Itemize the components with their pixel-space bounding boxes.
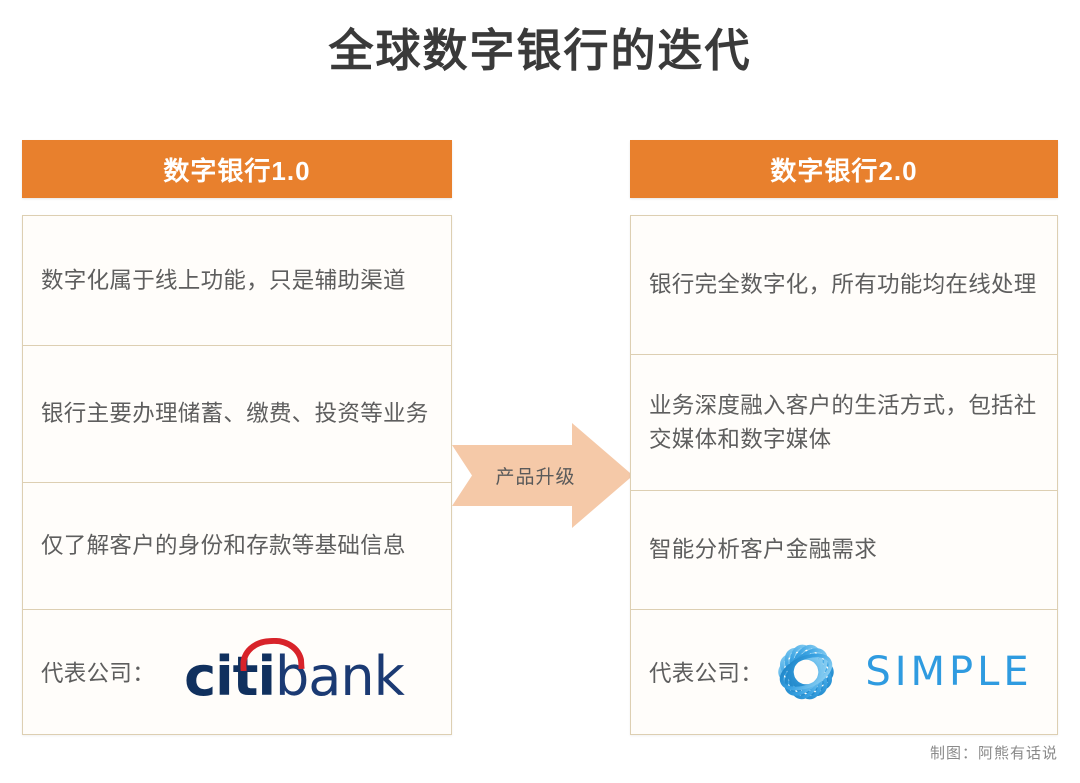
- list-item: 数字化属于线上功能，只是辅助渠道: [23, 216, 451, 346]
- point-text: 银行完全数字化，所有功能均在线处理: [649, 268, 1037, 301]
- list-item: 业务深度融入客户的生活方式，包括社交媒体和数字媒体: [631, 355, 1057, 491]
- product-upgrade-arrow: 产品升级: [452, 423, 633, 528]
- company-label: 代表公司：: [649, 656, 763, 688]
- company-label: 代表公司：: [41, 656, 155, 688]
- simple-ring-icon: [769, 635, 843, 709]
- simple-logo: SIMPLE: [769, 635, 1032, 709]
- infographic-page: 全球数字银行的迭代 数字银行1.0 数字化属于线上功能，只是辅助渠道 银行主要办…: [0, 0, 1080, 783]
- company-row-2: 代表公司：: [631, 610, 1057, 734]
- column-body-2: 银行完全数字化，所有功能均在线处理 业务深度融入客户的生活方式，包括社交媒体和数…: [630, 215, 1058, 735]
- list-item: 智能分析客户金融需求: [631, 491, 1057, 610]
- point-text: 数字化属于线上功能，只是辅助渠道: [41, 264, 406, 297]
- list-item: 银行主要办理储蓄、缴费、投资等业务: [23, 346, 451, 483]
- column-digital-bank-2: 数字银行2.0 银行完全数字化，所有功能均在线处理 业务深度融入客户的生活方式，…: [630, 140, 1058, 735]
- credit-footer: 制图：阿熊有话说: [930, 742, 1058, 763]
- company-row-1: 代表公司： citibank: [23, 610, 451, 734]
- column-header-2: 数字银行2.0: [630, 140, 1058, 198]
- citi-arc-icon: [240, 637, 305, 671]
- column-body-1: 数字化属于线上功能，只是辅助渠道 银行主要办理储蓄、缴费、投资等业务 仅了解客户…: [22, 215, 452, 735]
- citibank-logo: citibank: [184, 640, 404, 704]
- point-text: 银行主要办理储蓄、缴费、投资等业务: [41, 397, 429, 430]
- column-header-1: 数字银行1.0: [22, 140, 452, 198]
- logo-wrap: SIMPLE: [763, 635, 1039, 709]
- column-digital-bank-1: 数字银行1.0 数字化属于线上功能，只是辅助渠道 银行主要办理储蓄、缴费、投资等…: [22, 140, 452, 735]
- list-item: 银行完全数字化，所有功能均在线处理: [631, 216, 1057, 355]
- arrow-label: 产品升级: [452, 423, 633, 528]
- logo-wrap: citibank: [155, 640, 433, 704]
- list-item: 仅了解客户的身份和存款等基础信息: [23, 483, 451, 610]
- point-text: 仅了解客户的身份和存款等基础信息: [41, 529, 406, 562]
- simple-logo-text: SIMPLE: [865, 649, 1032, 695]
- point-text: 业务深度融入客户的生活方式，包括社交媒体和数字媒体: [649, 389, 1039, 456]
- point-text: 智能分析客户金融需求: [649, 533, 877, 566]
- page-title: 全球数字银行的迭代: [0, 24, 1080, 78]
